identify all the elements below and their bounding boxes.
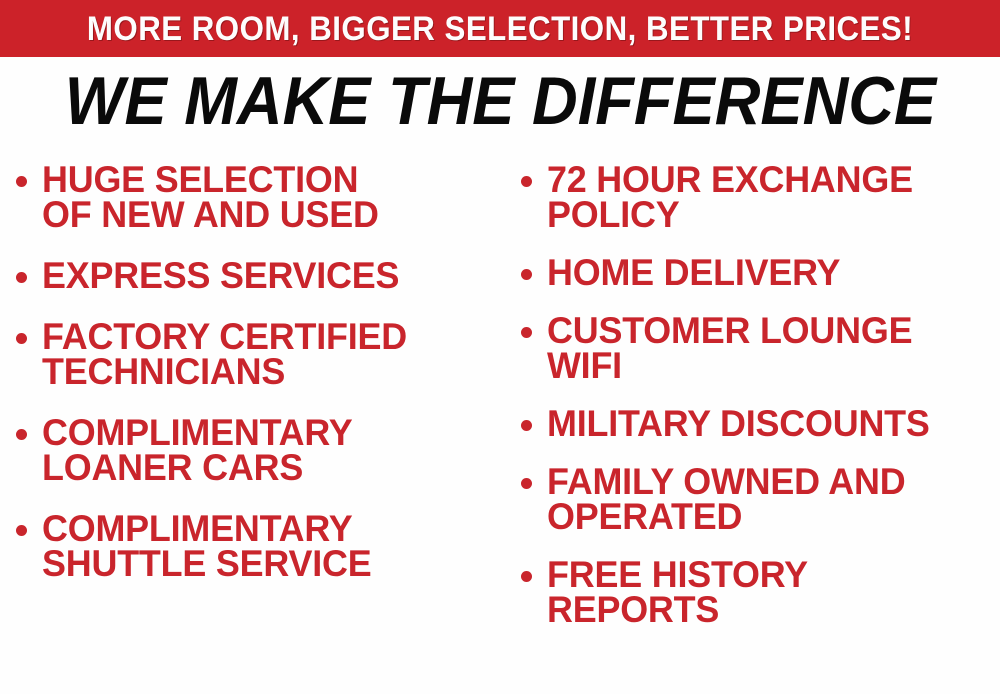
- bullet-dot-icon: [16, 333, 27, 344]
- banner-headline-text: MORE ROOM, BIGGER SELECTION, BETTER PRIC…: [87, 12, 913, 46]
- benefits-columns: HUGE SELECTION OF NEW AND USED EXPRESS S…: [0, 158, 1000, 694]
- benefits-column-left: HUGE SELECTION OF NEW AND USED EXPRESS S…: [0, 158, 505, 607]
- list-item-label: EXPRESS SERVICES: [42, 258, 399, 293]
- list-item-label: FREE HISTORY REPORTS: [547, 557, 808, 627]
- list-item: HUGE SELECTION OF NEW AND USED: [16, 162, 505, 232]
- headline-text: WE MAKE THE DIFFERENCE: [64, 67, 935, 135]
- list-item: COMPLIMENTARY SHUTTLE SERVICE: [16, 511, 505, 581]
- list-item: FACTORY CERTIFIED TECHNICIANS: [16, 319, 505, 389]
- list-item-label: CUSTOMER LOUNGE WIFI: [547, 313, 912, 383]
- bullet-dot-icon: [521, 327, 532, 338]
- list-item: COMPLIMENTARY LOANER CARS: [16, 415, 505, 485]
- list-item-label: HUGE SELECTION OF NEW AND USED: [42, 162, 379, 232]
- bullet-dot-icon: [521, 269, 532, 280]
- list-item-label: 72 HOUR EXCHANGE POLICY: [547, 162, 913, 232]
- list-item-label: FAMILY OWNED AND OPERATED: [547, 464, 905, 534]
- bullet-dot-icon: [521, 420, 532, 431]
- bullet-dot-icon: [521, 478, 532, 489]
- bullet-dot-icon: [16, 429, 27, 440]
- list-item-label: FACTORY CERTIFIED TECHNICIANS: [42, 319, 407, 389]
- promotional-poster: MORE ROOM, BIGGER SELECTION, BETTER PRIC…: [0, 0, 1000, 694]
- list-item-label: HOME DELIVERY: [547, 255, 840, 290]
- bullet-dot-icon: [521, 571, 532, 582]
- list-item: HOME DELIVERY: [521, 255, 1000, 290]
- list-item: FREE HISTORY REPORTS: [521, 557, 1000, 627]
- bullet-dot-icon: [16, 272, 27, 283]
- list-item: EXPRESS SERVICES: [16, 258, 505, 293]
- bullet-dot-icon: [521, 176, 532, 187]
- list-item: FAMILY OWNED AND OPERATED: [521, 464, 1000, 534]
- list-item-label: COMPLIMENTARY LOANER CARS: [42, 415, 353, 485]
- list-item: CUSTOMER LOUNGE WIFI: [521, 313, 1000, 383]
- list-item-label: COMPLIMENTARY SHUTTLE SERVICE: [42, 511, 371, 581]
- top-banner: MORE ROOM, BIGGER SELECTION, BETTER PRIC…: [0, 0, 1000, 57]
- list-item: MILITARY DISCOUNTS: [521, 406, 1000, 441]
- main-headline: WE MAKE THE DIFFERENCE: [0, 62, 1000, 140]
- bullet-dot-icon: [16, 176, 27, 187]
- bullet-dot-icon: [16, 525, 27, 536]
- benefits-column-right: 72 HOUR EXCHANGE POLICY HOME DELIVERY CU…: [505, 158, 1000, 650]
- list-item: 72 HOUR EXCHANGE POLICY: [521, 162, 1000, 232]
- list-item-label: MILITARY DISCOUNTS: [547, 406, 930, 441]
